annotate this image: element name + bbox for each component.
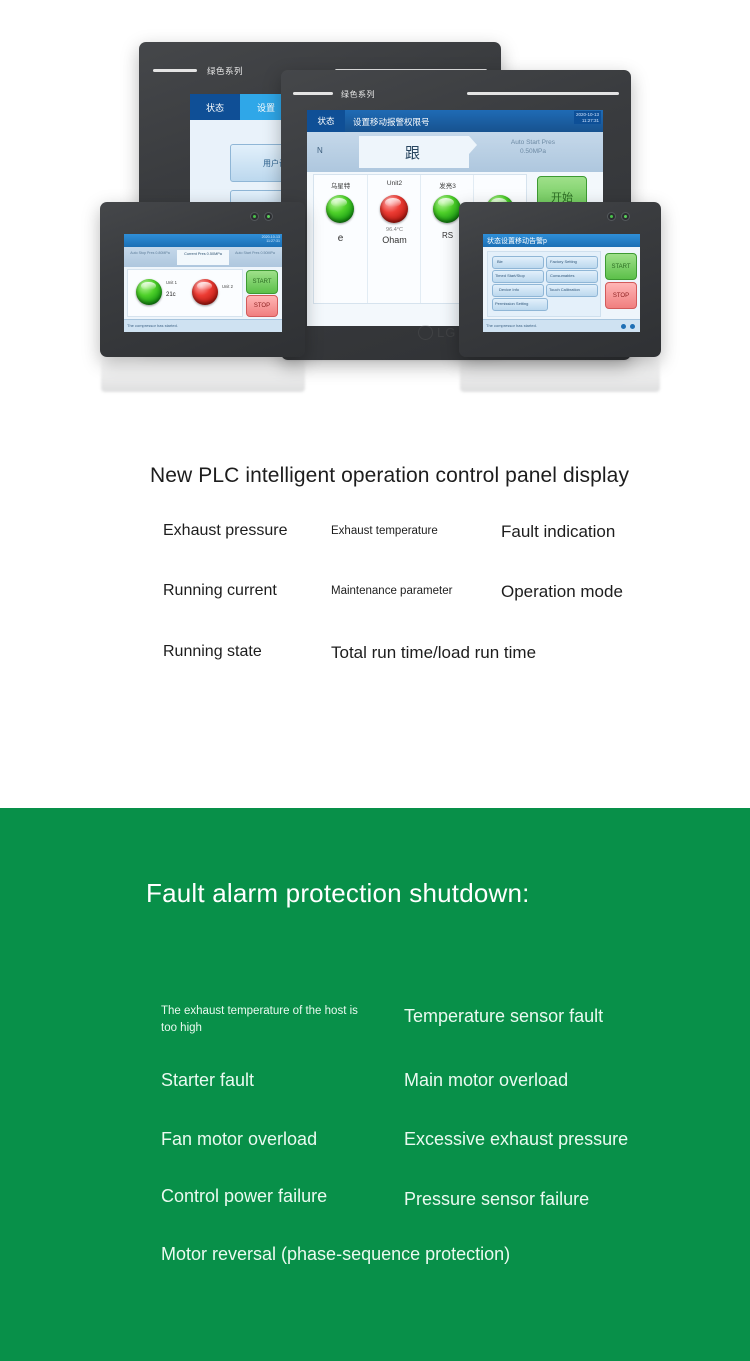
lamp-cell-1: 乌星特 e — [314, 175, 367, 303]
lamp-panel: Unit 1 21c Unit 2 — [127, 269, 243, 317]
ribbon-left-label: N — [317, 146, 323, 155]
power-led-icon — [250, 212, 259, 221]
pressure-ribbon: N 跟 Auto Start Pres 0.50MPa — [307, 132, 603, 172]
alarm-main-motor-overload: Main motor overload — [404, 1070, 568, 1091]
start-button[interactable]: START — [605, 253, 637, 280]
stop-button[interactable]: STOP — [605, 282, 637, 309]
lamp-label-1: 乌星特 — [314, 180, 367, 190]
indicator-lamp-green-1 — [136, 279, 162, 305]
bezel-accent-line — [153, 69, 197, 72]
lamp-label-3: 发亮3 — [421, 180, 474, 190]
clock-time: 11:27:31 — [262, 239, 280, 243]
status-text: The compressor has started. — [486, 323, 537, 328]
screen-title-bar: 状态设置移动告警p — [483, 234, 640, 247]
tab-status[interactable]: 状态 — [307, 110, 345, 132]
info-icon[interactable] — [621, 324, 626, 329]
menu-chip-consumables[interactable]: Consumables — [546, 270, 598, 283]
brand-label: 绿色系列 — [207, 65, 243, 77]
alarm-fan-motor-overload: Fan motor overload — [161, 1129, 317, 1150]
pressure-ribbon: Auto Stop Pres 0.80MPa Current Pres 0.50… — [124, 247, 282, 267]
menu-chip-touch-calibration[interactable]: Touch Calibration — [546, 284, 598, 297]
feature-exhaust-pressure: Exhaust pressure — [163, 522, 288, 540]
feature-running-current: Running current — [163, 582, 277, 600]
features-section: New PLC intelligent operation control pa… — [0, 440, 750, 808]
indicator-lamp-green-1 — [326, 195, 354, 223]
screen-clock: 2020-10-13 11:27:31 — [262, 235, 280, 244]
brand-label: 绿色系列 — [341, 89, 375, 100]
screen-title-bar: 2020-10-13 11:27:31 — [124, 234, 282, 247]
screen-front-left[interactable]: 2020-10-13 11:27:31 Auto Stop Pres 0.80M… — [124, 234, 282, 332]
menu-chip-factory-setting[interactable]: Factory Setting — [546, 256, 598, 269]
menu-chip-label: Consumables — [550, 273, 574, 278]
menu-chip-ble[interactable]: Ble — [492, 256, 544, 269]
device-reflection-left — [101, 356, 305, 392]
ribbon-center-label: 跟 — [405, 142, 420, 163]
menu-chip-label: Device Info — [499, 287, 519, 292]
feature-row: Running state Total run time/load run ti… — [0, 643, 750, 689]
feature-row: Running current Maintenance parameter Op… — [0, 582, 750, 628]
indicator-lamp-red-2 — [380, 195, 408, 223]
run-led-icon — [621, 212, 630, 221]
ribbon-item-1: Auto Stop Pres 0.80MPa — [127, 251, 173, 256]
menu-chip-label: Factory Setting — [550, 259, 577, 264]
product-detail-page: 绿色系列 状态 设置 M 用户设置 绿色系列 — [0, 0, 750, 1361]
device-reflection-right — [460, 356, 660, 392]
indicator-lamp-green-3 — [433, 195, 461, 223]
power-led-icon — [607, 212, 616, 221]
screen-header-text: 状态设置移动告警p — [487, 236, 547, 246]
bezel-accent-line — [293, 92, 333, 95]
menu-chip-label: Timed Start/Stop — [495, 273, 525, 278]
lamp-cell-2: Unit2 96.4°C Oham — [367, 175, 421, 303]
feature-running-state: Running state — [163, 643, 262, 661]
bezel-accent-line — [467, 92, 619, 95]
alarm-motor-reversal: Motor reversal (phase-sequence protectio… — [161, 1244, 510, 1265]
screen-clock: 2020-10-13 11:27:31 — [574, 111, 601, 124]
lamp-label-1: Unit 1 — [166, 280, 177, 285]
status-bar: The compressor has started. — [124, 319, 282, 332]
menu-panel: Ble Factory Setting Timed Start/Stop Con… — [487, 251, 601, 317]
status-text: The compressor has started. — [127, 323, 178, 328]
menu-chip-permission-setting[interactable]: Permission Setting — [492, 298, 548, 311]
menu-chip-label: Permission Setting — [495, 301, 528, 306]
alarm-pressure-sensor-failure: Pressure sensor failure — [404, 1189, 589, 1210]
menu-chip-label: Ble — [497, 259, 503, 264]
alarm-temperature-sensor-fault: Temperature sensor fault — [404, 1006, 603, 1027]
features-title: New PLC intelligent operation control pa… — [150, 464, 629, 488]
feature-row: Exhaust pressure Exhaust temperature Fau… — [0, 522, 750, 568]
auto-start-pressure-value: 0.50MPa — [511, 147, 555, 156]
ribbon-item-2-box: Current Pres 0.50MPa — [177, 250, 229, 265]
watermark: LG — [418, 325, 456, 340]
run-led-icon — [264, 212, 273, 221]
device-front-right: 状态设置移动告警p Ble Factory Setting Timed Star… — [459, 202, 661, 357]
lamp-label-2: Unit 2 — [222, 284, 233, 289]
alarm-excessive-exhaust-pressure: Excessive exhaust pressure — [404, 1129, 628, 1150]
alarm-control-power-failure: Control power failure — [161, 1186, 327, 1207]
feature-operation-mode: Operation mode — [501, 582, 623, 602]
lamp-value-1: 21c — [166, 292, 176, 298]
lamp-value-1: e — [314, 233, 367, 244]
lamp-label-2: Unit2 — [368, 180, 421, 187]
menu-chip-device-info[interactable]: Device Info — [492, 284, 544, 297]
alarm-starter-fault: Starter fault — [161, 1070, 254, 1091]
menu-chip-timed-start-stop[interactable]: Timed Start/Stop — [492, 270, 544, 283]
screen-title-bar: 状态 设置移动报警权限号 2020-10-13 11:27:31 — [307, 110, 603, 132]
stop-button[interactable]: STOP — [246, 295, 278, 317]
auto-start-pressure-label: Auto Start Pres — [511, 138, 555, 147]
ribbon-item-2: Current Pres 0.50MPa — [177, 250, 229, 257]
alarms-title: Fault alarm protection shutdown: — [146, 878, 530, 909]
feature-maintenance-parameter: Maintenance parameter — [331, 585, 452, 597]
feature-fault-indication: Fault indication — [501, 522, 615, 542]
lamp-value-2: Oham — [368, 235, 421, 245]
tab-status[interactable]: 状态 — [190, 94, 240, 120]
feature-total-run-time: Total run time/load run time — [331, 643, 536, 663]
screen-front-right[interactable]: 状态设置移动告警p Ble Factory Setting Timed Star… — [483, 234, 640, 332]
start-button[interactable]: START — [246, 270, 278, 294]
ribbon-right-block: Auto Start Pres 0.50MPa — [511, 138, 555, 156]
screen-header-text: 设置移动报警权限号 — [353, 116, 430, 128]
indicator-lamp-red-2 — [192, 279, 218, 305]
ribbon-center-chevron: 跟 — [359, 136, 469, 168]
watermark-text: LG — [437, 325, 456, 340]
product-photo: 绿色系列 状态 设置 M 用户设置 绿色系列 — [0, 0, 750, 440]
led-indicator-group — [250, 212, 273, 221]
alarm-host-exhaust-temp-high: The exhaust temperature of the host is t… — [161, 1003, 361, 1036]
feature-exhaust-temperature: Exhaust temperature — [331, 525, 438, 537]
settings-icon[interactable] — [630, 324, 635, 329]
clock-time: 11:27:31 — [576, 118, 599, 124]
alarms-section: Fault alarm protection shutdown: The exh… — [0, 808, 750, 1361]
clock-date: 2020-10-13 — [576, 112, 599, 118]
device-front-left: 2020-10-13 11:27:31 Auto Stop Pres 0.80M… — [100, 202, 305, 357]
led-indicator-group — [607, 212, 630, 221]
watermark-logo-icon — [418, 325, 433, 340]
lamp-sub-2: 96.4°C — [368, 227, 421, 233]
ribbon-item-3: Auto Start Pres 0.50MPa — [232, 251, 278, 256]
menu-chip-label: Touch Calibration — [549, 287, 580, 292]
status-bar: The compressor has started. — [483, 319, 640, 332]
